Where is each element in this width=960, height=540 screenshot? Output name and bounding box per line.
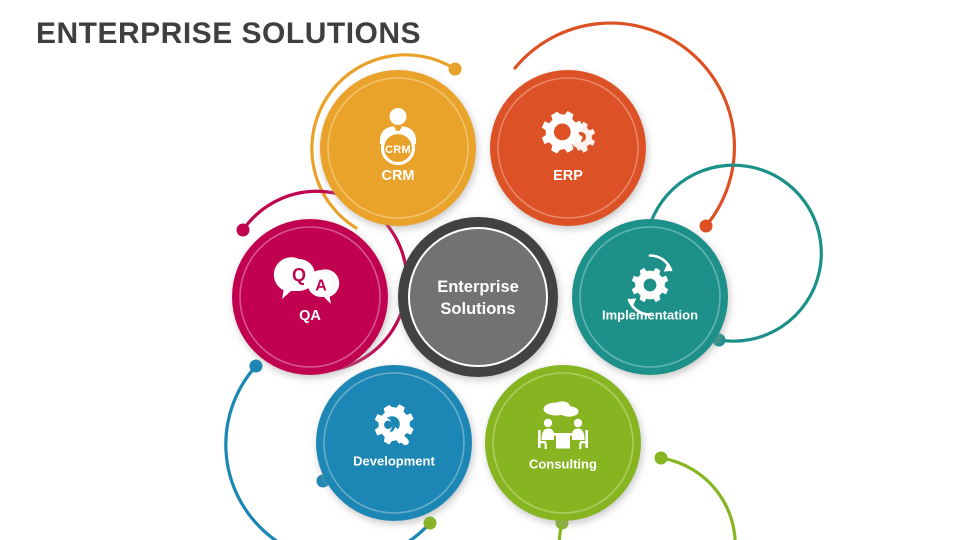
petal-crm[interactable]: CRM CRM — [320, 70, 476, 226]
petal-label-development: Development — [353, 453, 435, 468]
center-label-line2: Solutions — [440, 300, 515, 318]
crm-badge-text: CRM — [385, 144, 411, 156]
enterprise-solutions-diagram: CRM CRM ERP — [0, 0, 960, 540]
petal-label-implementation: Implementation — [602, 307, 698, 322]
petal-label-crm: CRM — [381, 168, 414, 184]
petal-implementation[interactable]: Implementation — [572, 219, 728, 375]
center-hub[interactable]: Enterprise Solutions — [398, 217, 558, 377]
center-label-line1: Enterprise — [437, 278, 519, 296]
petal-consulting[interactable]: Consulting — [485, 365, 641, 521]
qa-a-letter: A — [315, 278, 327, 295]
petal-qa[interactable]: Q A QA — [232, 219, 388, 375]
qa-q-letter: Q — [292, 265, 306, 285]
petal-development[interactable]: Development — [316, 365, 472, 521]
petal-erp[interactable]: ERP — [490, 70, 646, 226]
petal-label-consulting: Consulting — [529, 456, 597, 471]
petal-label-erp: ERP — [553, 168, 583, 184]
petal-label-qa: QA — [299, 308, 321, 324]
